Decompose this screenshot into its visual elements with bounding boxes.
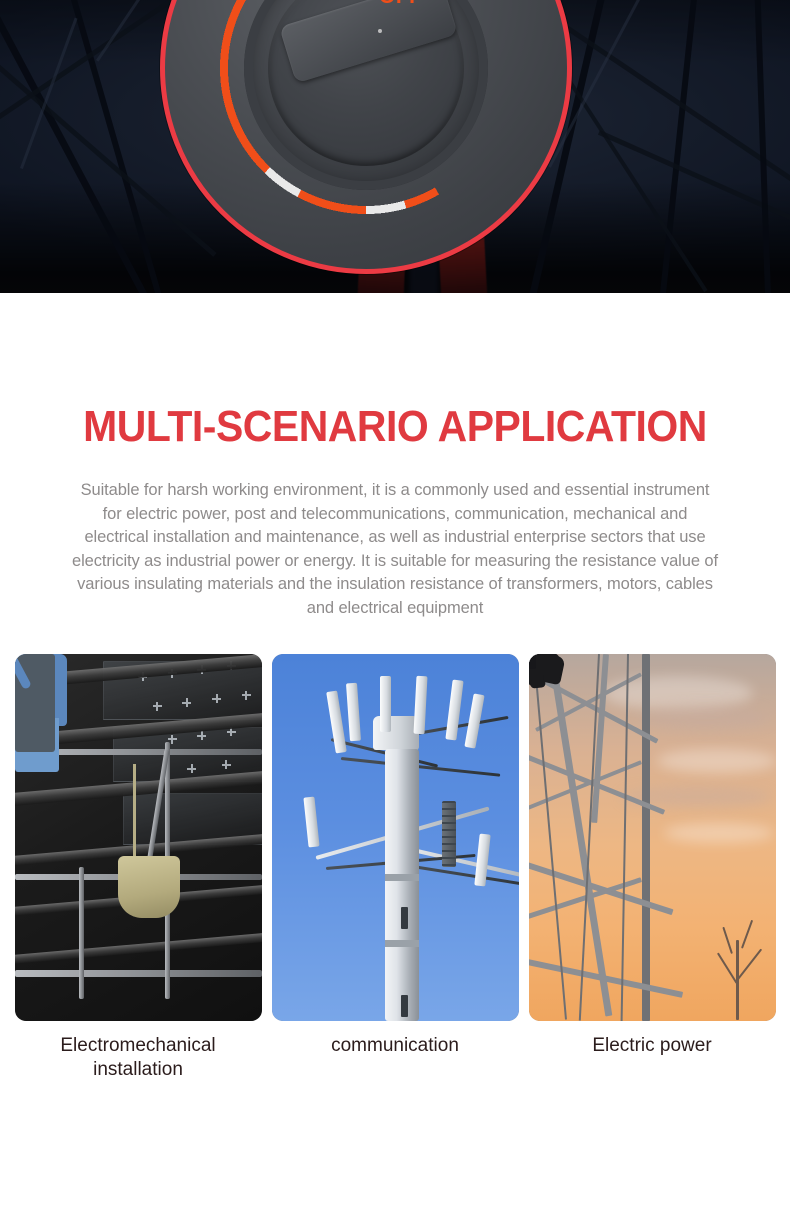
tool-bag bbox=[118, 856, 180, 918]
card-caption: Electromechanical installation bbox=[15, 1034, 262, 1082]
card-communication[interactable]: communication bbox=[272, 654, 519, 1082]
section-description: Suitable for harsh working environment, … bbox=[69, 479, 721, 620]
content-section: MULTI-SCENARIO APPLICATION Suitable for … bbox=[0, 405, 790, 1082]
page-root: DCV ACV OFF MULTI-SCENARIO APPLICATION S… bbox=[0, 0, 790, 1221]
dial-label-off: OFF bbox=[379, 0, 423, 9]
page-title: MULTI-SCENARIO APPLICATION bbox=[28, 405, 763, 449]
card-image-electric-power bbox=[529, 654, 776, 1021]
hero-banner: DCV ACV OFF bbox=[0, 0, 790, 293]
card-caption: communication bbox=[272, 1034, 519, 1058]
application-cards: Electromechanical installation bbox=[0, 654, 790, 1082]
card-electric-power[interactable]: Electric power bbox=[529, 654, 776, 1082]
card-image-electromechanical bbox=[15, 654, 262, 1021]
card-caption: Electric power bbox=[529, 1034, 776, 1058]
card-image-communication bbox=[272, 654, 519, 1021]
card-electromechanical-installation[interactable]: Electromechanical installation bbox=[15, 654, 262, 1082]
